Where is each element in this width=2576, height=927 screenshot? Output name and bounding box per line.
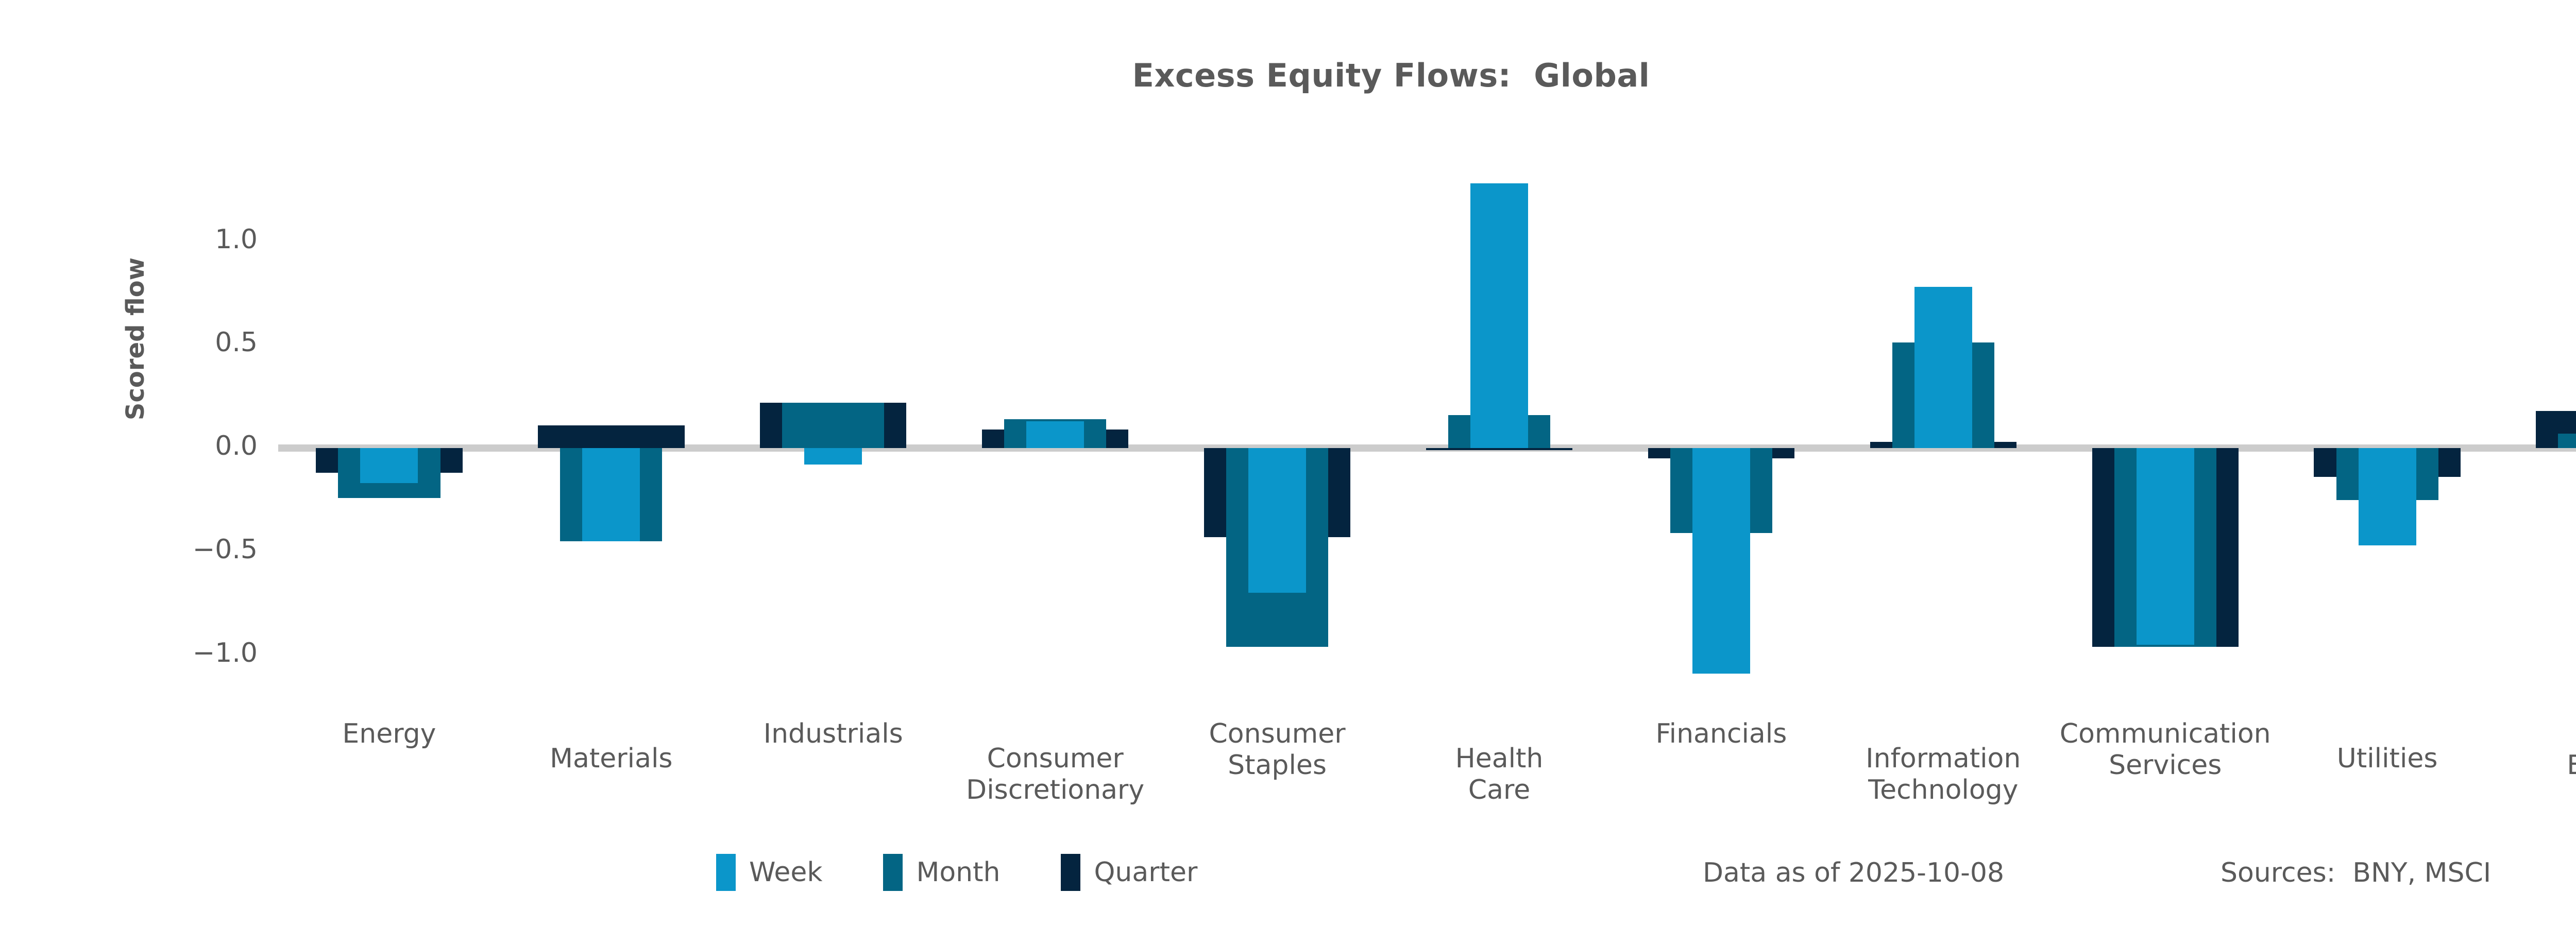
chart-figure: Excess Equity Flows: Global Scored flow …: [0, 0, 2576, 927]
bar-week: [1470, 183, 1528, 448]
bar-week: [1026, 421, 1084, 448]
bar-month: [2558, 434, 2576, 448]
x-tick-label: Health Care: [1353, 743, 1646, 806]
legend-swatch-icon: [716, 854, 736, 891]
bar-week: [1692, 448, 1750, 674]
bar-month: [782, 403, 884, 448]
legend-label: Month: [916, 857, 1000, 888]
legend-swatch-icon: [1061, 854, 1080, 891]
bar-week: [804, 448, 862, 465]
bar-week: [1914, 287, 1972, 448]
plot-area: 1.00.50.0−0.5−1.0: [278, 154, 2576, 700]
x-tick-label: Real Estate: [2463, 718, 2576, 782]
bar-week: [2359, 448, 2416, 545]
legend-entry-month[interactable]: Month: [883, 854, 1000, 891]
y-tick-label: 0.0: [144, 433, 258, 459]
bar-week: [582, 448, 640, 541]
chart-legend: WeekMonthQuarter: [716, 854, 1258, 891]
legend-label: Week: [749, 857, 822, 888]
y-tick-label: −0.5: [144, 536, 258, 563]
legend-entry-quarter[interactable]: Quarter: [1061, 854, 1197, 891]
y-tick-label: 0.5: [144, 329, 258, 356]
sources-note: Sources: BNY, MSCI: [2221, 857, 2491, 888]
bar-week: [1248, 448, 1306, 593]
bar-quarter: [538, 425, 684, 448]
bar-week: [2137, 448, 2194, 644]
bar-quarter: [1426, 448, 1572, 450]
y-tick-label: −1.0: [144, 640, 258, 666]
bar-week: [360, 448, 418, 483]
legend-label: Quarter: [1094, 857, 1197, 888]
data-as-of-note: Data as of 2025-10-08: [1703, 857, 2004, 888]
legend-swatch-icon: [883, 854, 903, 891]
legend-entry-week[interactable]: Week: [716, 854, 822, 891]
chart-title: Excess Equity Flows: Global: [0, 57, 2576, 94]
y-tick-label: 1.0: [144, 226, 258, 253]
